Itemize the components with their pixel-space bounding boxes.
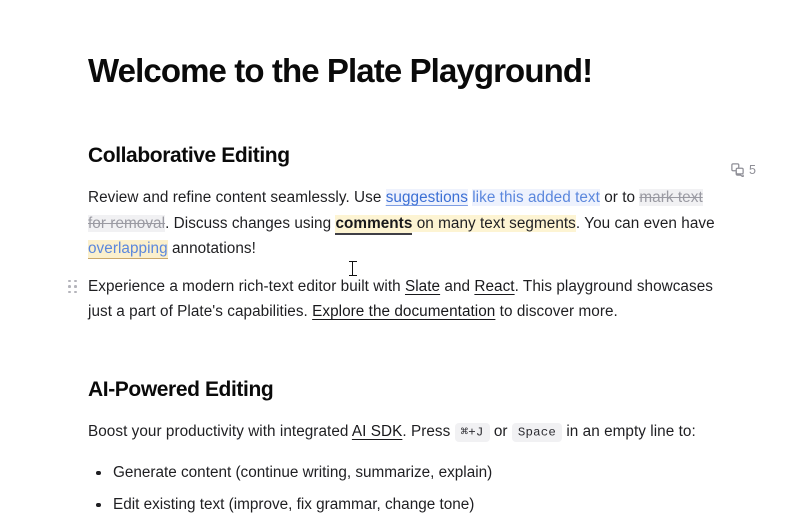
link-react[interactable]: React [474, 278, 514, 295]
drag-handle-icon[interactable] [68, 280, 79, 295]
paragraph-text: Review and refine content seamlessly. Us… [88, 189, 386, 206]
paragraph-text: in an empty line to: [562, 423, 696, 440]
paragraph-text: . Discuss changes using [165, 215, 335, 232]
paragraph-text: or [490, 423, 512, 440]
paragraph-text: Boost your productivity with integrated [88, 423, 352, 440]
paragraph-text: to discover more. [495, 303, 617, 320]
kbd-shortcut-space: Space [512, 423, 562, 442]
list-item[interactable]: Edit existing text (improve, fix grammar… [88, 492, 724, 518]
paragraph-text: Experience a modern rich-text editor bui… [88, 278, 405, 295]
comment-anchor-comments[interactable]: comments [335, 215, 412, 235]
document-body[interactable]: Welcome to the Plate Playground! Collabo… [88, 0, 724, 524]
paragraph-collaboration[interactable]: Review and refine content seamlessly. Us… [88, 168, 724, 262]
link-slate[interactable]: Slate [405, 278, 440, 295]
suggestion-inserted-link[interactable]: suggestions [386, 189, 468, 206]
heading-ai-powered-editing: AI-Powered Editing [88, 325, 724, 402]
paragraph-text: and [440, 278, 474, 295]
paragraph-editor-intro[interactable]: Experience a modern rich-text editor bui… [88, 262, 724, 325]
heading-collaborative-editing: Collaborative Editing [88, 90, 724, 168]
comment-anchor-overlapping[interactable]: overlapping [88, 240, 168, 259]
paragraph-text: . Press [402, 423, 454, 440]
comments-icon [730, 162, 745, 177]
link-ai-sdk[interactable]: AI SDK [352, 423, 402, 440]
kbd-shortcut-command-j: ⌘+J [455, 423, 490, 442]
paragraph-text: . You can even have [576, 215, 715, 232]
page-title: Welcome to the Plate Playground! [88, 0, 724, 90]
paragraph-text: or to [600, 189, 639, 206]
editor-page: Welcome to the Plate Playground! Collabo… [0, 0, 800, 471]
suggestion-inserted-text[interactable]: like this added text [472, 189, 600, 206]
comment-count-label: 5 [749, 163, 756, 177]
list-item[interactable]: Generate content (continue writing, summ… [88, 460, 724, 486]
comment-anchor-segments[interactable]: on many text segments [412, 215, 576, 232]
paragraph-ai-intro[interactable]: Boost your productivity with integrated … [88, 402, 724, 447]
ai-capabilities-list: Generate content (continue writing, summ… [88, 446, 724, 518]
paragraph-text: annotations! [168, 240, 256, 257]
link-documentation[interactable]: Explore the documentation [312, 303, 495, 320]
comment-count-badge[interactable]: 5 [730, 162, 756, 177]
